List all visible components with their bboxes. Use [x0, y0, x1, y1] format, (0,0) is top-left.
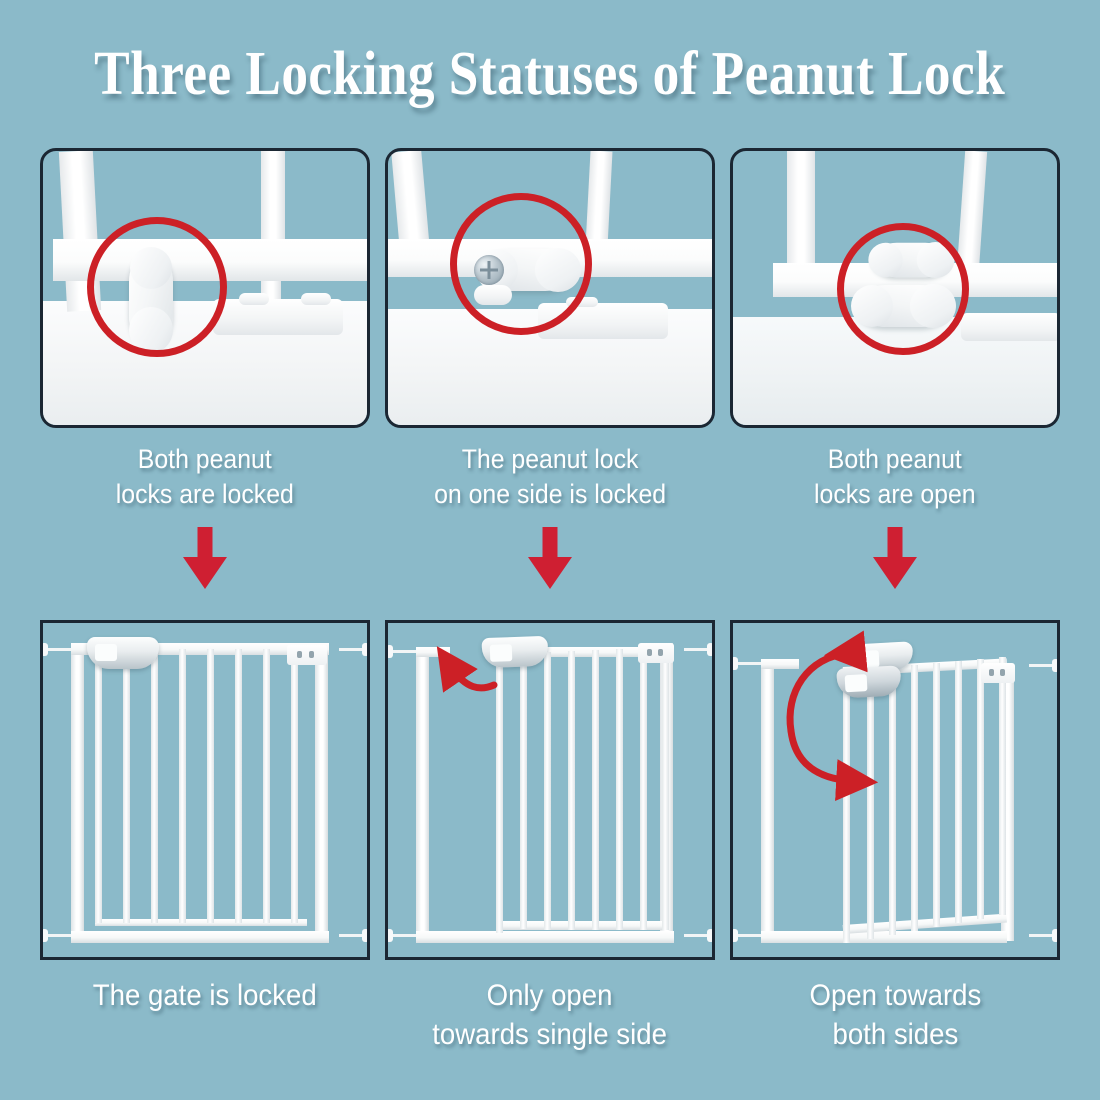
mount-bolt-bottom-right — [1025, 929, 1059, 942]
bolt-stem — [45, 934, 71, 937]
gate-open-both-sides-diagram — [730, 620, 1060, 960]
door-bar — [592, 650, 599, 930]
down-arrow-icon — [527, 527, 573, 589]
arrow-shaft — [543, 527, 558, 561]
arrow-cell-2 — [385, 527, 715, 589]
lock-state-caption: Both peanut locks are locked — [116, 442, 294, 512]
arrow-shaft — [198, 527, 213, 561]
gate-latch-handle — [87, 637, 159, 669]
door-bar — [520, 653, 527, 929]
door-bar — [933, 663, 940, 927]
gate-state-caption: Only open towards single side — [433, 976, 668, 1054]
latch-button — [490, 644, 513, 662]
mount-bolt-top-right — [680, 643, 714, 656]
door-hinge-bar — [843, 671, 850, 943]
photo-content — [43, 151, 367, 425]
bolt-cap — [1052, 929, 1059, 942]
frame-post-right — [315, 643, 328, 943]
gate-bar-upper — [586, 150, 613, 247]
door-latch-bar — [999, 657, 1006, 915]
arrow-head — [528, 557, 572, 589]
catch-slot — [1000, 669, 1005, 676]
catch-slot — [647, 649, 652, 656]
catch-slot — [309, 651, 314, 658]
gate-catch-bracket — [638, 643, 674, 663]
latch-plate-tab-a — [239, 293, 269, 305]
gate-door-open — [492, 647, 668, 933]
bolt-stem — [390, 934, 416, 937]
gate-bottom-rail — [71, 931, 329, 943]
catch-slot — [658, 649, 663, 656]
frame-post-left — [71, 643, 84, 943]
gate-bar — [95, 649, 102, 923]
bolt-cap — [386, 645, 393, 658]
lock-state-caption: Both peanut locks are open — [814, 442, 976, 512]
bolt-cap — [707, 643, 714, 656]
gate-content — [733, 623, 1057, 957]
frame-top-stub — [416, 647, 450, 657]
peanut-lock-both-locked-photo — [40, 148, 370, 428]
peanut-lock-one-side-locked-photo — [385, 148, 715, 428]
arrow-cell-1 — [40, 527, 370, 589]
arrow-shaft — [888, 527, 903, 561]
gate-state-single-side: Only open towards single side — [385, 620, 715, 1054]
latch-plate — [961, 313, 1060, 341]
mount-bolt-bottom-left — [41, 929, 75, 942]
arrow-head — [873, 557, 917, 589]
mount-bolt-top-left — [731, 657, 765, 670]
down-arrow-icon — [872, 527, 918, 589]
lock-state-both-open: Both peanut locks are open — [730, 148, 1060, 512]
bolt-stem — [735, 934, 761, 937]
bolt-cap — [386, 929, 393, 942]
gate-state-locked: The gate is locked — [40, 620, 370, 1054]
frame-post-left — [761, 659, 774, 941]
bolt-cap — [362, 643, 369, 656]
bolt-cap — [1052, 659, 1059, 672]
lock-state-caption: The peanut lock on one side is locked — [434, 442, 666, 512]
lock-state-one-side-locked: The peanut lock on one side is locked — [385, 148, 715, 512]
mount-bolt-top-right — [1025, 659, 1059, 672]
gate-state-caption: Open towards both sides — [809, 976, 981, 1054]
mount-bolt-bottom-right — [680, 929, 714, 942]
lock-states-row: Both peanut locks are locked The peanut … — [0, 148, 1100, 512]
photo-content — [733, 151, 1057, 425]
bolt-stem — [45, 648, 71, 651]
down-arrow-icon — [182, 527, 228, 589]
door-bar — [640, 648, 647, 930]
gate-content — [388, 623, 712, 957]
red-circle-highlight-icon — [837, 223, 969, 355]
bolt-stem — [735, 662, 761, 665]
bolt-cap — [707, 929, 714, 942]
arrow-cell-3 — [730, 527, 1060, 589]
catch-slot — [989, 669, 994, 676]
door-hinge-bar — [496, 651, 503, 933]
latch-plate-tab-b — [301, 293, 331, 305]
gate-bar — [151, 649, 158, 923]
door-latch-bar — [662, 647, 669, 930]
lock-state-both-locked: Both peanut locks are locked — [40, 148, 370, 512]
down-arrows-row — [0, 512, 1100, 604]
gate-states-row: The gate is locked — [0, 620, 1100, 1054]
door-bar — [616, 649, 623, 930]
door-bar — [568, 651, 575, 930]
bolt-cap — [41, 929, 48, 942]
photo-content — [388, 151, 712, 425]
bolt-cap — [731, 657, 738, 670]
page-title: Three Locking Statuses of Peanut Lock — [94, 39, 1005, 110]
arrow-head — [183, 557, 227, 589]
gate-state-both-sides: Open towards both sides — [730, 620, 1060, 1054]
door-bar — [911, 665, 918, 931]
gate-bar — [179, 649, 186, 923]
gate-catch-bracket — [287, 645, 327, 665]
frame-post-left — [416, 647, 429, 941]
gate-bar — [235, 649, 242, 923]
gate-state-caption: The gate is locked — [93, 976, 317, 1015]
door-bar — [867, 669, 874, 939]
bolt-cap — [362, 929, 369, 942]
mount-bolt-top-left — [41, 643, 75, 656]
gate-bar — [263, 649, 270, 923]
mount-bolt-top-right — [335, 643, 369, 656]
gate-bar — [207, 649, 214, 923]
latch-button — [95, 644, 117, 661]
bolt-stem — [390, 650, 416, 653]
gate-bar — [123, 655, 130, 923]
red-circle-highlight-icon — [87, 217, 227, 357]
mount-bolt-bottom-left — [386, 929, 420, 942]
door-bar — [955, 661, 962, 923]
frame-top-stub — [761, 659, 799, 669]
door-bar — [544, 652, 551, 930]
gate-open-single-side-diagram — [385, 620, 715, 960]
gate-closed-diagram — [40, 620, 370, 960]
mount-bolt-bottom-right — [335, 929, 369, 942]
gate-bar-upper — [957, 150, 987, 271]
mount-bolt-bottom-left — [731, 929, 765, 942]
catch-slot — [297, 651, 302, 658]
bolt-cap — [731, 929, 738, 942]
gate-content — [43, 623, 367, 957]
bolt-cap — [41, 643, 48, 656]
door-bar — [977, 659, 984, 919]
door-bar — [889, 667, 896, 935]
red-circle-highlight-icon — [450, 193, 592, 335]
mount-bolt-top-left — [386, 645, 420, 658]
gate-bar — [291, 649, 298, 923]
header: Three Locking Statuses of Peanut Lock — [0, 0, 1100, 148]
gate-catch-bracket — [981, 663, 1015, 683]
latch-button — [845, 674, 868, 692]
peanut-lock-both-open-photo — [730, 148, 1060, 428]
